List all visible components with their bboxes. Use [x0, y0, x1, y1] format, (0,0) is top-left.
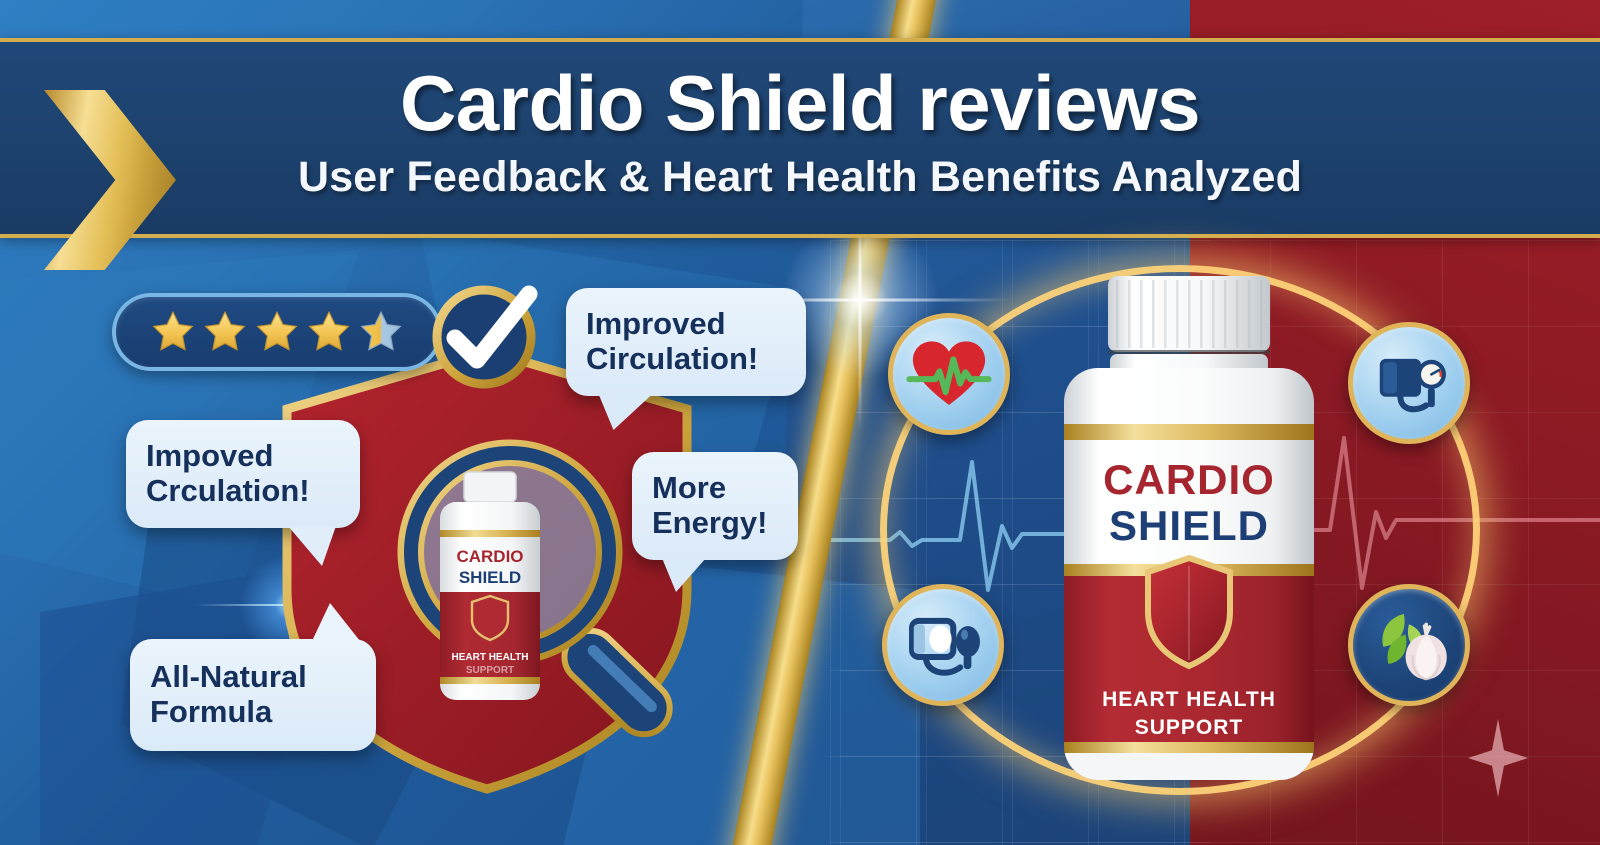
- bubble-tail: [662, 558, 706, 592]
- svg-text:CARDIO: CARDIO: [1103, 456, 1275, 503]
- garlic-herbs-icon[interactable]: [1348, 584, 1470, 706]
- garlic-herbs-glyph: [1366, 602, 1452, 688]
- star-icon-full: [306, 309, 352, 355]
- bubble-line-1: More: [652, 471, 778, 506]
- bubble-line-2: Circulation!: [586, 342, 786, 377]
- promotional-banner: Cardio Shield reviews User Feedback & He…: [0, 0, 1600, 845]
- svg-text:SHIELD: SHIELD: [459, 568, 521, 587]
- heart-ecg-icon[interactable]: [888, 313, 1010, 435]
- page-title: Cardio Shield reviews: [0, 58, 1600, 149]
- svg-text:CARDIO: CARDIO: [456, 547, 523, 566]
- bubble-tail: [288, 526, 336, 566]
- check-badge-icon[interactable]: [425, 278, 543, 396]
- star-icon-full: [150, 309, 196, 355]
- bubble-line-2: Formula: [150, 695, 356, 730]
- bubble-line-1: Improved: [586, 307, 786, 342]
- bp-monitor-glyph: [1366, 340, 1452, 426]
- bp-cuff-glyph: [900, 602, 986, 688]
- star-icon-full: [202, 309, 248, 355]
- speech-bubble-all-natural-formula[interactable]: All-Natural Formula: [130, 639, 376, 751]
- svg-text:HEART HEALTH: HEART HEALTH: [1102, 688, 1276, 711]
- bubble-line-2: Crculation!: [146, 474, 340, 509]
- bubble-line-2: Energy!: [652, 506, 778, 541]
- product-bottle-small: CARDIO SHIELD HEART HEALTH SUPPORT: [430, 470, 550, 705]
- bubble-line-1: Impoved: [146, 439, 340, 474]
- header-text-block: Cardio Shield reviews User Feedback & He…: [0, 58, 1600, 202]
- speech-bubble-impoved-crculation[interactable]: Impoved Crculation!: [126, 420, 360, 528]
- svg-text:SHIELD: SHIELD: [1109, 502, 1269, 549]
- blood-pressure-monitor-icon[interactable]: [1348, 322, 1470, 444]
- bubble-tail: [312, 603, 360, 641]
- star-icon-full: [254, 309, 300, 355]
- bubble-tail: [593, 394, 652, 430]
- blood-pressure-cuff-icon[interactable]: [882, 584, 1004, 706]
- bubble-line-1: All-Natural: [150, 660, 356, 695]
- page-subtitle: User Feedback & Heart Health Benefits An…: [0, 153, 1600, 202]
- svg-text:SUPPORT: SUPPORT: [466, 665, 514, 676]
- star-rating[interactable]: [112, 293, 442, 371]
- svg-text:HEART HEALTH: HEART HEALTH: [451, 652, 528, 663]
- speech-bubble-more-energy[interactable]: More Energy!: [632, 452, 798, 560]
- heart-ecg-glyph: [906, 331, 992, 417]
- star-icon-half: [358, 309, 404, 355]
- product-bottle-main[interactable]: CARDIO SHIELD HEART HEALTH SUPPORT: [1058, 272, 1320, 784]
- speech-bubble-improved-circulation[interactable]: Improved Circulation!: [566, 288, 806, 396]
- svg-text:SUPPORT: SUPPORT: [1135, 716, 1244, 739]
